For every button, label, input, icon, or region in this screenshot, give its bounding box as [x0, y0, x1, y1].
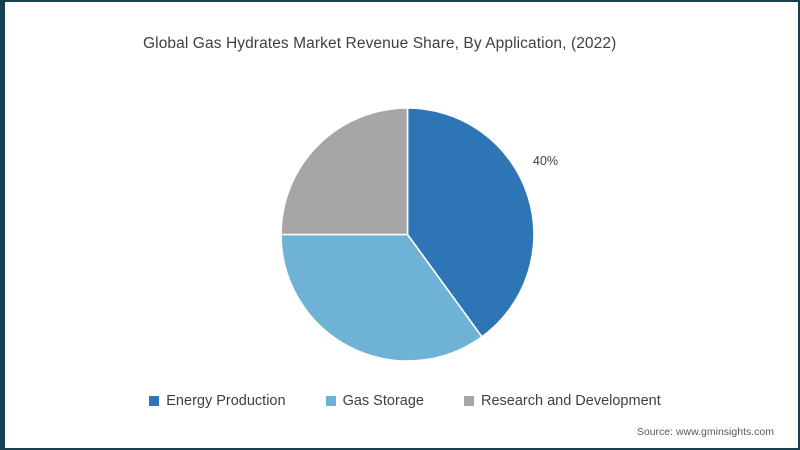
chart-legend: Energy ProductionGas StorageResearch and…: [5, 393, 800, 409]
legend-item[interactable]: Energy Production: [149, 393, 285, 409]
pie-chart-svg: [281, 108, 534, 361]
pie-chart: [281, 108, 534, 361]
legend-swatch-icon: [326, 396, 336, 406]
legend-swatch-icon: [149, 396, 159, 406]
legend-item-label: Energy Production: [166, 393, 285, 409]
legend-swatch-icon: [464, 396, 474, 406]
pie-slice-group: [281, 108, 534, 361]
chart-frame: Global Gas Hydrates Market Revenue Share…: [0, 0, 800, 450]
pie-slice-data-label: 40%: [533, 154, 558, 168]
legend-item-label: Research and Development: [481, 393, 661, 409]
legend-item[interactable]: Research and Development: [464, 393, 661, 409]
pie-slice[interactable]: [281, 108, 408, 235]
legend-item-label: Gas Storage: [343, 393, 424, 409]
page-title: Global Gas Hydrates Market Revenue Share…: [143, 35, 616, 53]
legend-item[interactable]: Gas Storage: [326, 393, 424, 409]
source-note: Source: www.gminsights.com: [637, 426, 774, 438]
